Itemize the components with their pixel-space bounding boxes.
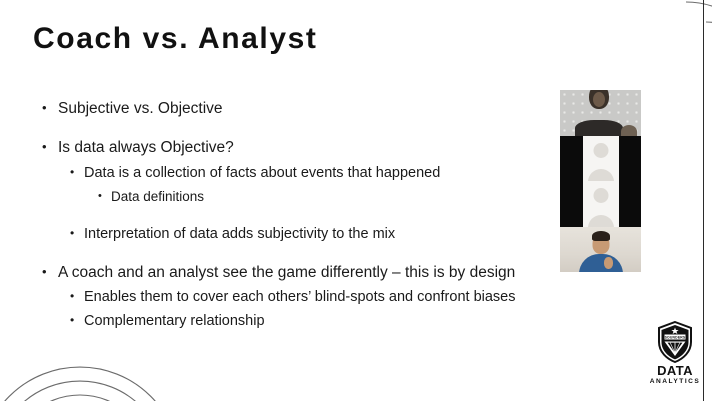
avatar-placeholder-card [583, 181, 619, 227]
bullet-glyph: • [70, 165, 84, 181]
bullet-text: Data is a collection of facts about even… [84, 165, 552, 182]
avatar-icon-body [588, 215, 614, 227]
participant-tile-4[interactable] [560, 227, 641, 273]
person-torso [575, 120, 623, 136]
bullet-text: Enables them to cover each others’ blind… [84, 289, 552, 306]
bullet-text: Interpretation of data adds subjectivity… [84, 226, 552, 243]
video-participant-strip[interactable] [560, 90, 641, 272]
bullet-text: A coach and an analyst see the game diff… [58, 264, 552, 282]
bullet-glyph: • [42, 100, 58, 116]
participant-tile-1[interactable] [560, 90, 641, 136]
person-hand [604, 257, 613, 269]
avatar-icon-head [593, 188, 608, 203]
logo-sub-wordmark: ANALYTICS [648, 378, 702, 385]
avatar-icon-head [593, 143, 608, 158]
bullet-item: • Complementary relationship [70, 313, 552, 330]
spacer [42, 158, 552, 165]
bullet-item: • Data is a collection of facts about ev… [70, 165, 552, 182]
spacer [42, 118, 552, 139]
bullet-item: • Interpretation of data adds subjectivi… [70, 226, 552, 243]
bullet-item: • Subjective vs. Objective [42, 100, 552, 118]
bullet-glyph: • [70, 289, 84, 305]
sounders-shield-icon: SOUNDERS [657, 321, 693, 363]
participant-tile-2[interactable] [560, 136, 641, 182]
spacer [42, 282, 552, 289]
bullet-glyph: • [42, 139, 58, 155]
bullet-glyph: • [70, 226, 84, 242]
presentation-slide: Coach vs. Analyst • Subjective vs. Objec… [0, 0, 712, 401]
bullet-text: Subjective vs. Objective [58, 100, 552, 118]
right-edge-rule [703, 0, 704, 401]
bullet-item: • Data definitions [98, 189, 552, 205]
person-hair [592, 231, 610, 241]
bullet-text: Complementary relationship [84, 313, 552, 330]
brand-logo: SOUNDERS DATA ANALYTICS [648, 321, 702, 385]
logo-wordmark: DATA [648, 364, 702, 378]
bullet-glyph: • [98, 189, 111, 204]
bullet-text: Data definitions [111, 189, 552, 205]
person-arm [621, 125, 637, 136]
spacer [42, 306, 552, 313]
spacer [42, 205, 552, 226]
avatar-placeholder-card [583, 136, 619, 182]
bullet-text: Is data always Objective? [58, 139, 552, 157]
spacer [42, 243, 552, 264]
slide-title: Coach vs. Analyst [33, 22, 318, 56]
bullet-glyph: • [42, 264, 58, 280]
bullet-glyph: • [70, 313, 84, 329]
bullet-item: • Enables them to cover each others’ bli… [70, 289, 552, 306]
bullet-list: • Subjective vs. Objective • Is data alw… [42, 100, 552, 330]
spacer [42, 182, 552, 189]
decorative-arcs-bottom-left [0, 347, 180, 401]
avatar-icon-body [588, 169, 614, 181]
decorative-arcs-top-right [512, 0, 712, 88]
bullet-item: • Is data always Objective? [42, 139, 552, 157]
svg-text:SOUNDERS: SOUNDERS [665, 336, 686, 340]
participant-tile-3[interactable] [560, 181, 641, 227]
bullet-item: • A coach and an analyst see the game di… [42, 264, 552, 282]
